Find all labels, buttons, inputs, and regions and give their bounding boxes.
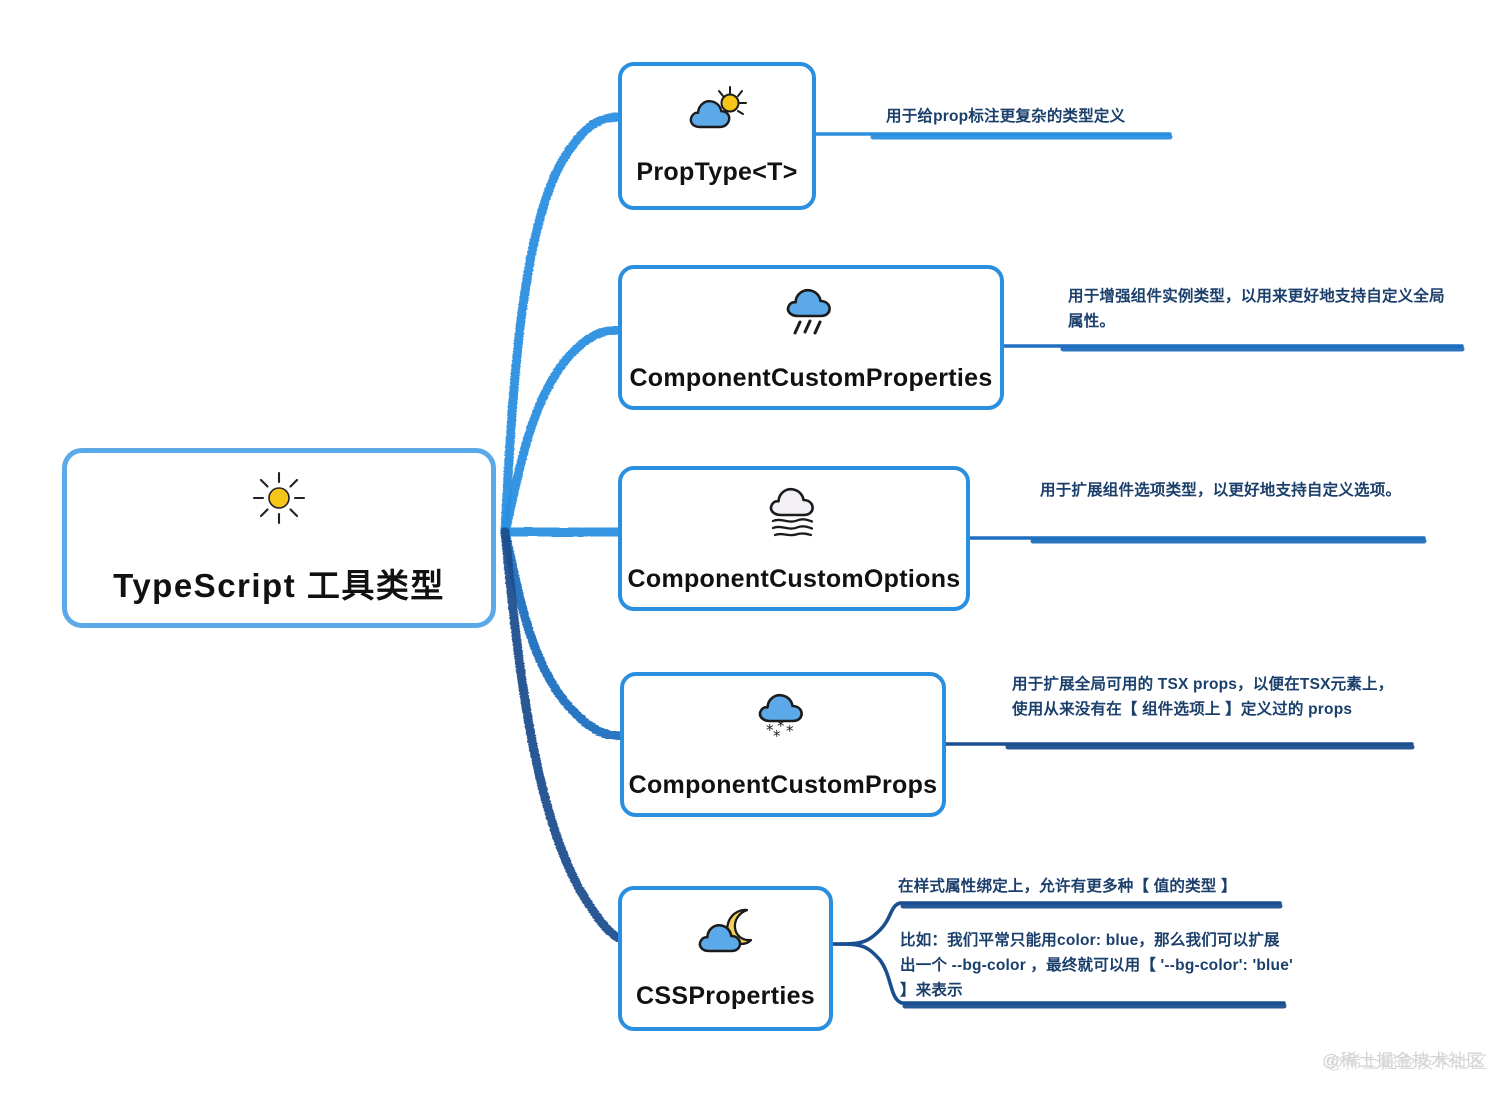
sun-icon [251,470,307,531]
node-component-custom-options-label: ComponentCustomOptions [628,565,961,594]
watermark: @稀土掘金技术社区 @稀土掘金技术社区 [1322,1046,1484,1071]
node-proptype[interactable]: PropType<T> [618,62,816,210]
annotation-text: 用于扩展组件选项类型，以更好地支持自定义选项。 [1040,478,1412,503]
sun-behind-cloud-icon [686,85,748,138]
mindmap-canvas: TypeScript 工具类型 PropType<T> 用于给prop标注更复杂… [0,0,1512,1095]
node-component-custom-properties[interactable]: ComponentCustomProperties [618,265,1004,410]
node-cssproperties[interactable]: CSSProperties [618,886,833,1031]
svg-text:*: * [773,727,781,745]
node-component-custom-props[interactable]: * * * * ComponentCustomProps [620,672,946,817]
snow-cloud-icon: * * * * [752,690,814,751]
annotation-cssproperties-1: 在样式属性绑定上，允许有更多种【 值的类型 】 [898,874,1290,899]
fog-cloud-icon [763,484,825,545]
annotation-component-custom-properties: 用于增强组件实例类型，以用来更好地支持自定义全局属性。 [1068,284,1450,334]
annotation-text: 用于给prop标注更复杂的类型定义 [886,104,1186,129]
node-cssproperties-label: CSSProperties [636,982,815,1011]
moon-behind-cloud-icon [695,907,757,962]
annotation-text: 在样式属性绑定上，允许有更多种【 值的类型 】 [898,874,1290,899]
root-node[interactable]: TypeScript 工具类型 [62,448,496,628]
node-proptype-label: PropType<T> [636,158,797,187]
node-component-custom-properties-label: ComponentCustomProperties [629,364,992,393]
node-component-custom-props-label: ComponentCustomProps [629,771,938,800]
rain-cloud-icon [780,283,842,344]
annotation-component-custom-options: 用于扩展组件选项类型，以更好地支持自定义选项。 [1040,478,1412,503]
annotation-proptype: 用于给prop标注更复杂的类型定义 [886,104,1186,129]
annotation-text: 比如：我们平常只能用color: blue，那么我们可以扩展出一个 --bg-c… [900,928,1294,1003]
root-node-label: TypeScript 工具类型 [113,559,445,607]
watermark-text-shadow: @稀土掘金技术社区 [1326,1048,1488,1073]
annotation-text: 用于扩展全局可用的 TSX props，以便在TSX元素上，使用从来没有在【 组… [1012,672,1404,722]
annotation-cssproperties-2: 比如：我们平常只能用color: blue，那么我们可以扩展出一个 --bg-c… [900,928,1294,1003]
annotation-text: 用于增强组件实例类型，以用来更好地支持自定义全局属性。 [1068,284,1450,334]
node-component-custom-options[interactable]: ComponentCustomOptions [618,466,970,611]
svg-text:*: * [786,722,794,740]
annotation-component-custom-props: 用于扩展全局可用的 TSX props，以便在TSX元素上，使用从来没有在【 组… [1012,672,1404,722]
